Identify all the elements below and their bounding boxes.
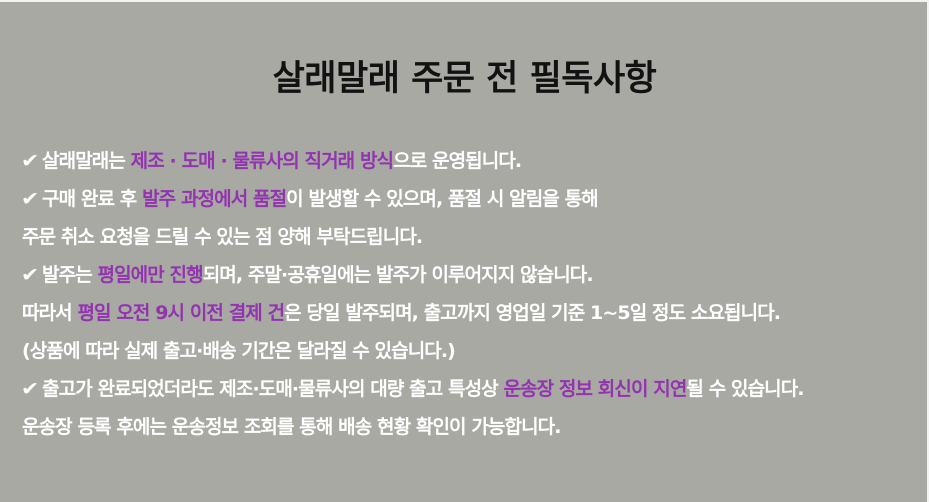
notice-line: ✔출고가 완료되었더라도 제조·도매·물류사의 대량 출고 특성상 운송장 정보… [22, 370, 922, 408]
notice-line: ✔살래말래는 제조 · 도매 · 물류사의 직거래 방식으로 운영됩니다. [22, 142, 922, 180]
notice-text: 으로 운영됩니다. [393, 150, 521, 172]
notice-line: (상품에 따라 실제 출고·배송 기간은 달라질 수 있습니다.) [22, 332, 922, 370]
notice-line: 따라서 평일 오전 9시 이전 결제 건은 당일 발주되며, 출고까지 영업일 … [22, 294, 922, 332]
check-icon: ✔ [21, 142, 38, 180]
notice-text: 주문 취소 요청을 드릴 수 있는 점 양해 부탁드립니다. [22, 226, 422, 248]
notice-line: ✔구매 완료 후 발주 과정에서 품절이 발생할 수 있으며, 품절 시 알림을… [22, 180, 922, 218]
notice-text: 은 당일 발주되며, 출고까지 영업일 기준 1~5일 정도 소요됩니다. [284, 302, 780, 324]
notice-highlight: 발주 과정에서 품절 [142, 188, 286, 210]
notice-line: 주문 취소 요청을 드릴 수 있는 점 양해 부탁드립니다. [22, 218, 922, 256]
check-icon: ✔ [21, 370, 38, 408]
notice-line: ✔발주는 평일에만 진행되며, 주말·공휴일에는 발주가 이루어지지 않습니다. [22, 256, 922, 294]
notice-text: 되며, 주말·공휴일에는 발주가 이루어지지 않습니다. [203, 264, 593, 286]
check-icon: ✔ [21, 256, 38, 294]
notice-body: ✔살래말래는 제조 · 도매 · 물류사의 직거래 방식으로 운영됩니다.✔구매… [22, 142, 922, 446]
notice-text: 출고가 완료되었더라도 제조·도매·물류사의 대량 출고 특성상 [42, 378, 503, 400]
notice-text: 될 수 있습니다. [686, 378, 803, 400]
notice-banner: 살래말래 주문 전 필독사항 ✔살래말래는 제조 · 도매 · 물류사의 직거래… [0, 0, 929, 502]
notice-highlight: 평일에만 진행 [98, 264, 203, 286]
notice-text: 운송장 등록 후에는 운송정보 조회를 통해 배송 현황 확인이 가능합니다. [22, 416, 561, 438]
notice-text: 따라서 [22, 302, 77, 324]
notice-text: 살래말래는 [42, 150, 131, 172]
notice-highlight: 제조 · 도매 · 물류사의 직거래 방식 [131, 150, 393, 172]
page-title: 살래말래 주문 전 필독사항 [0, 57, 929, 101]
notice-text: 발주는 [42, 264, 97, 286]
notice-line: 운송장 등록 후에는 운송정보 조회를 통해 배송 현황 확인이 가능합니다. [22, 408, 922, 446]
notice-text: 구매 완료 후 [42, 188, 142, 210]
notice-text: 이 발생할 수 있으며, 품절 시 알림을 통해 [286, 188, 598, 210]
check-icon: ✔ [21, 180, 38, 218]
notice-highlight: 운송장 정보 회신이 지연 [503, 378, 686, 400]
notice-highlight: 평일 오전 9시 이전 결제 건 [77, 302, 284, 324]
notice-text: (상품에 따라 실제 출고·배송 기간은 달라질 수 있습니다.) [22, 340, 455, 362]
